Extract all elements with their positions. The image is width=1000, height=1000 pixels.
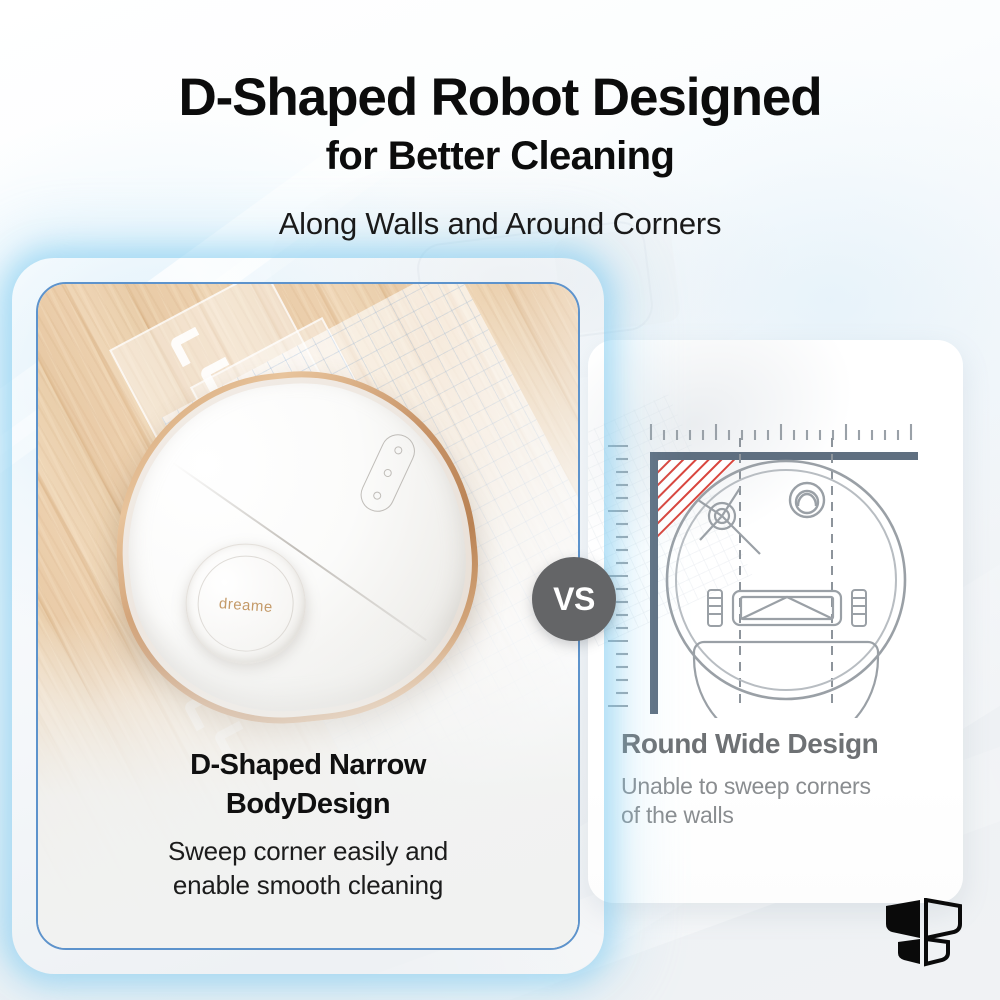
dshaped-card-title: D-Shaped Narrow BodyDesign (38, 746, 578, 824)
round-card-content: Round Wide Design Unable to sweep corner… (588, 340, 963, 903)
product-photo: dreame D-Shaped Narrow BodyDesign Sweep … (38, 284, 578, 948)
comparison-card-round[interactable]: Round Wide Design Unable to sweep corner… (588, 340, 963, 903)
ruler-left (608, 446, 628, 706)
dshaped-card-title-line2: BodyDesign (226, 788, 390, 820)
ruler-top (651, 424, 911, 440)
versus-badge: VS (532, 557, 616, 641)
poster-canvas: D-Shaped Robot Designed for Better Clean… (0, 0, 1000, 1000)
round-robot-body (667, 461, 905, 699)
round-card-description: Unable to sweep corners of the walls (621, 772, 941, 831)
page-title-line2: for Better Cleaning (0, 126, 1000, 186)
round-robot-diagram (588, 388, 963, 718)
dshaped-card-description-line1: Sweep corner easily and (168, 836, 448, 866)
comparison-card-dshaped[interactable]: dreame D-Shaped Narrow BodyDesign Sweep … (36, 282, 580, 950)
logo-bottom-right-shape (926, 939, 948, 964)
dshaped-card-description-line2: enable smooth cleaning (173, 870, 443, 900)
page-title-line1: D-Shaped Robot Designed (0, 70, 1000, 126)
headline-block: D-Shaped Robot Designed for Better Clean… (0, 70, 1000, 242)
dreame-logo-icon (884, 898, 962, 970)
dshaped-card-description: Sweep corner easily and enable smooth cl… (38, 835, 578, 903)
lidar-turret (790, 483, 824, 517)
side-brush (698, 488, 760, 554)
wheel-right (852, 590, 866, 626)
logo-top-right-shape (926, 900, 960, 938)
round-card-description-line1: Unable to sweep corners (621, 773, 871, 799)
wheel-left (708, 590, 722, 626)
round-card-description-line2: of the walls (621, 802, 734, 828)
versus-badge-label: VS (553, 581, 595, 618)
robot-button-panel (355, 429, 420, 518)
logo-top-left-shape (886, 900, 920, 938)
measurement-guides (740, 438, 832, 710)
logo-bottom-left-shape (898, 939, 920, 964)
main-brush-housing (733, 591, 841, 625)
round-robot-inner (676, 470, 896, 690)
page-subtitle: Along Walls and Around Corners (0, 206, 1000, 242)
dshaped-card-title-line1: D-Shaped Narrow (190, 749, 426, 781)
round-card-title: Round Wide Design (621, 728, 878, 760)
